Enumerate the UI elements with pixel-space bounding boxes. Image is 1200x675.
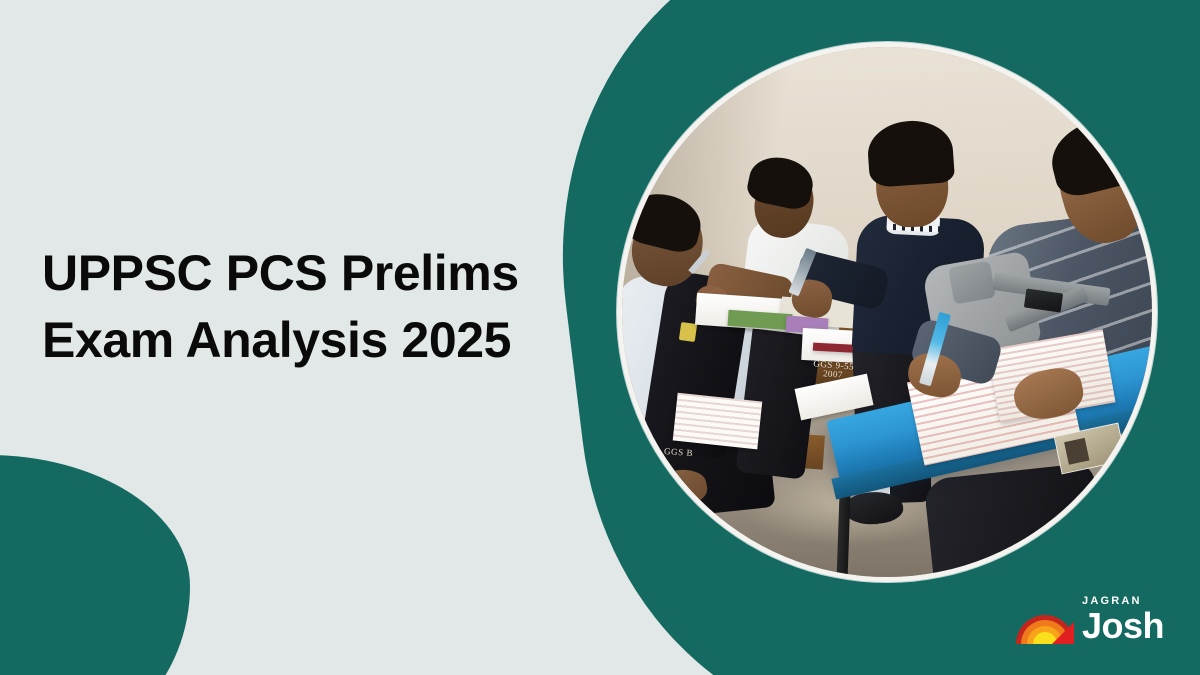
page-title-line-1: UPPSC PCS Prelims [42,240,602,307]
backpack-pocket [948,261,996,305]
jagran-josh-logo[interactable]: JAGRAN Josh [1016,596,1164,644]
logo-wordmark: JAGRAN Josh [1082,596,1164,644]
desk-carved-marking: GGS 9-55 2007 [812,359,854,379]
sunburst-arc-icon [1016,614,1074,644]
student-leg [924,462,1105,577]
uppsc-exam-analysis-banner: GGS 9-55 2007 GGS B [0,0,1200,675]
circular-photo-frame: GGS 9-55 2007 GGS B [617,42,1157,582]
page-title-line-2: Exam Analysis 2025 [42,307,602,374]
page-title: UPPSC PCS Prelims Exam Analysis 2025 [42,240,602,373]
logo-brand-main: Josh [1082,608,1164,644]
answer-sheet-on-bench [673,392,762,448]
bench-carved-marking: GGS B [664,446,694,458]
school-badge [679,322,697,342]
teal-blob-bottom-left [0,455,190,675]
classroom-exam-photo: GGS 9-55 2007 GGS B [622,47,1152,577]
